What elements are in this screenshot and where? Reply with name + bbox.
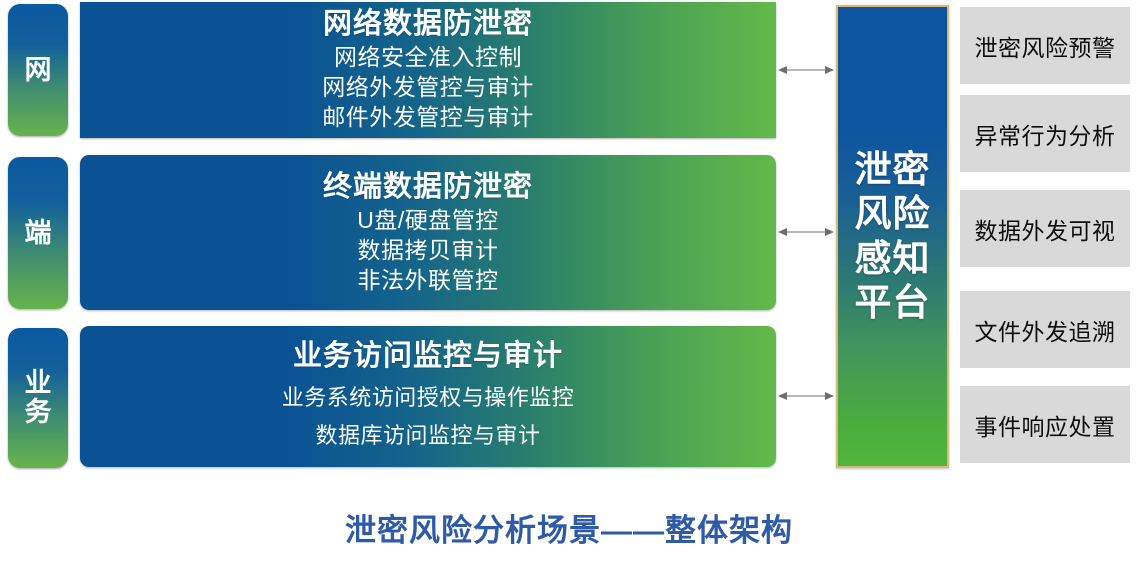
outcome-box-anomaly-analysis[interactable]: 异常行为分析 xyxy=(960,95,1130,172)
panel-title: 网络数据防泄密 xyxy=(323,7,533,41)
panel-title: 业务访问监控与审计 xyxy=(293,339,563,373)
outcome-box-incident-response[interactable]: 事件响应处置 xyxy=(960,386,1130,463)
outcome-box-data-egress-visibility[interactable]: 数据外发可视 xyxy=(960,190,1130,267)
outcome-box-file-egress-tracing[interactable]: 文件外发追溯 xyxy=(960,291,1130,368)
outcome-box-risk-alert[interactable]: 泄密风险预警 xyxy=(960,7,1130,84)
bidirectional-arrow-icon xyxy=(778,390,834,402)
outcome-label: 异常行为分析 xyxy=(975,117,1116,151)
bidirectional-arrow-icon xyxy=(778,64,834,76)
panel-feature-item: 网络外发管控与审计 xyxy=(322,73,534,103)
panel-feature-item: 非法外联管控 xyxy=(358,266,499,296)
capability-panel-business[interactable]: 业务访问监控与审计 业务系统访问授权与操作监控 数据库访问监控与审计 xyxy=(80,326,776,467)
panel-feature-list: U盘/硬盘管控 数据拷贝审计 非法外联管控 xyxy=(357,206,499,296)
panel-feature-item: 数据库访问监控与审计 xyxy=(315,417,540,455)
panel-feature-item: 邮件外发管控与审计 xyxy=(322,103,534,133)
architecture-diagram: 网 端 业务 网络数据防泄密 网络安全准入控制 网络外发管控与审计 邮件外发管控… xyxy=(0,0,1138,572)
outcome-label: 数据外发可视 xyxy=(975,212,1116,246)
category-tab-label: 网 xyxy=(21,56,55,85)
category-tab-label: 业务 xyxy=(21,369,55,426)
panel-feature-item: U盘/硬盘管控 xyxy=(357,206,499,236)
category-tab-business[interactable]: 业务 xyxy=(8,328,68,468)
panel-feature-list: 业务系统访问授权与操作监控 数据库访问监控与审计 xyxy=(282,379,575,455)
capability-panel-network[interactable]: 网络数据防泄密 网络安全准入控制 网络外发管控与审计 邮件外发管控与审计 xyxy=(80,2,776,138)
platform-column[interactable]: 泄密风险感知平台 xyxy=(836,5,949,468)
bidirectional-arrow-icon xyxy=(778,226,834,238)
diagram-caption: 泄密风险分析场景——整体架构 xyxy=(0,505,1138,550)
capability-panel-endpoint[interactable]: 终端数据防泄密 U盘/硬盘管控 数据拷贝审计 非法外联管控 xyxy=(80,155,776,310)
panel-feature-list: 网络安全准入控制 网络外发管控与审计 邮件外发管控与审计 xyxy=(322,43,534,133)
category-tab-endpoint[interactable]: 端 xyxy=(8,157,68,309)
outcome-label: 文件外发追溯 xyxy=(975,313,1116,347)
platform-label: 泄密风险感知平台 xyxy=(852,148,934,326)
panel-title: 终端数据防泄密 xyxy=(323,170,533,204)
panel-feature-item: 网络安全准入控制 xyxy=(334,43,522,73)
panel-feature-item: 业务系统访问授权与操作监控 xyxy=(282,379,575,417)
outcome-label: 泄密风险预警 xyxy=(975,29,1116,63)
panel-feature-item: 数据拷贝审计 xyxy=(358,236,499,266)
outcome-label: 事件响应处置 xyxy=(975,408,1116,442)
category-tab-network[interactable]: 网 xyxy=(8,4,68,136)
category-tab-label: 端 xyxy=(21,219,55,248)
